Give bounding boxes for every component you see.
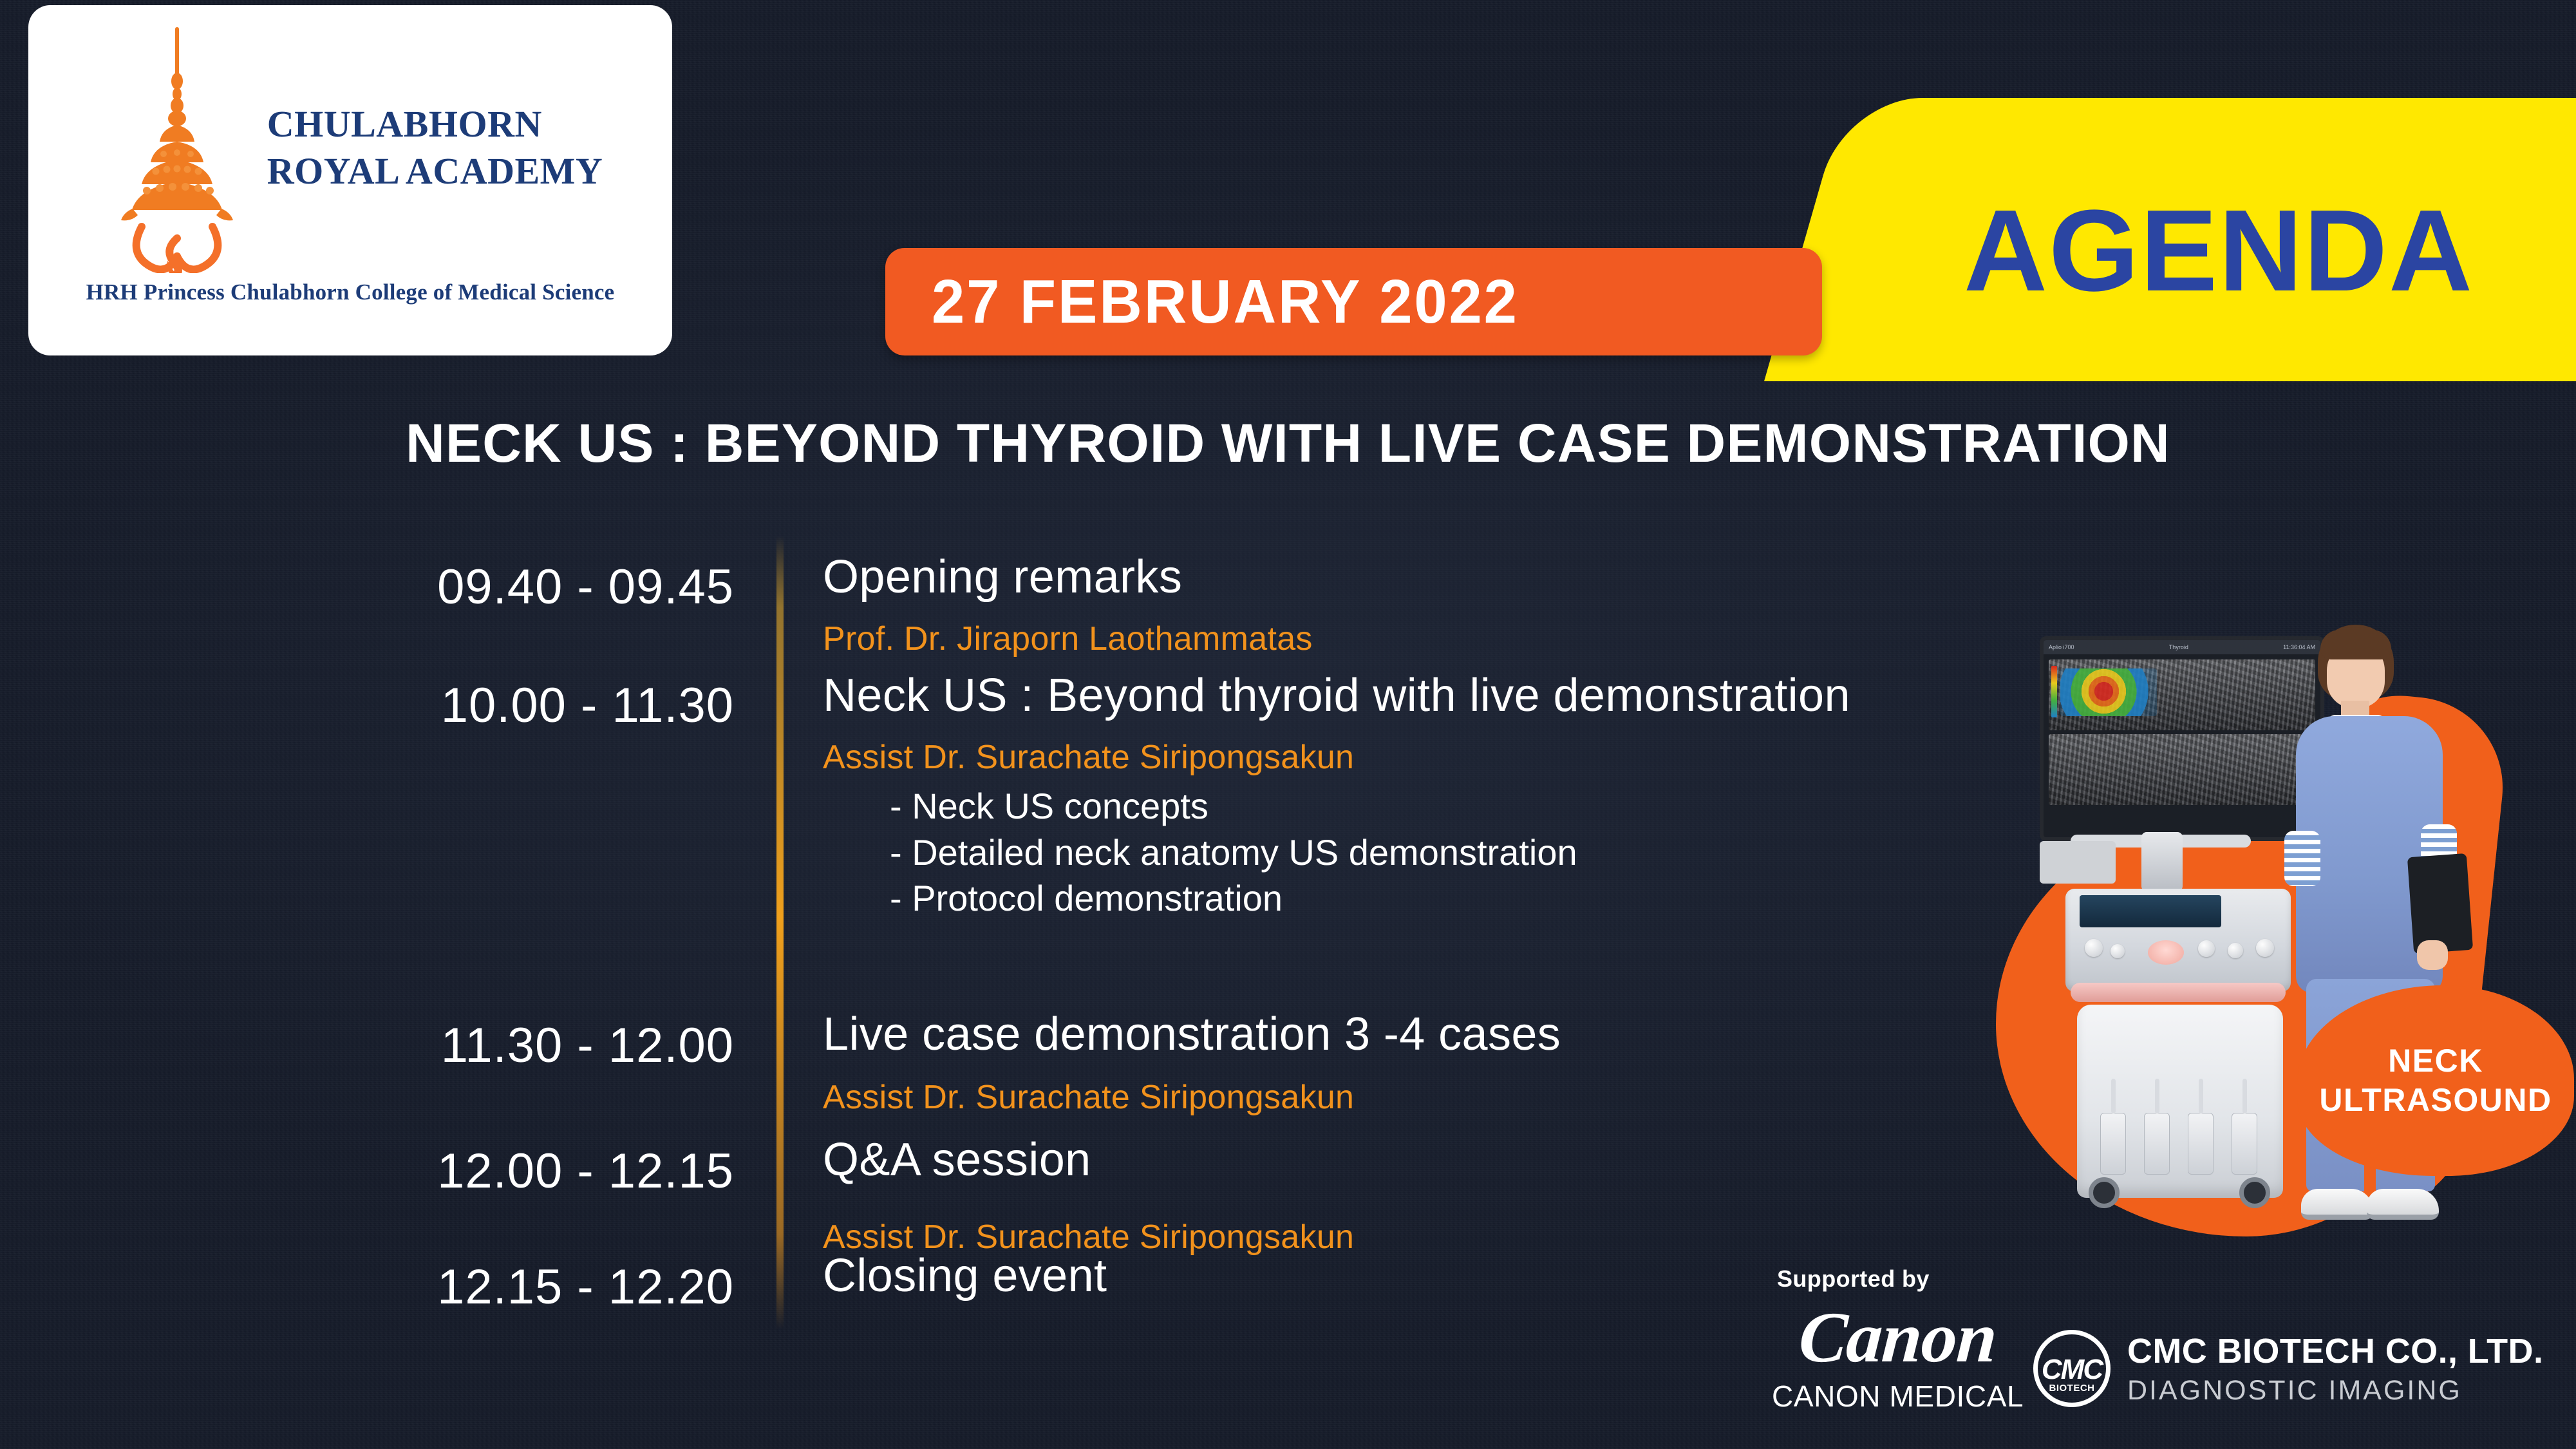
ultrasound-probe <box>2144 1113 2170 1175</box>
ultrasound-probe <box>2232 1113 2257 1175</box>
agenda-row-speaker: Prof. Dr. Jiraporn Laothammatas <box>823 622 1313 656</box>
machine-monitor-stand <box>2141 832 2183 891</box>
agenda-row-body: Neck US : Beyond thyroid with live demon… <box>823 672 1850 774</box>
thai-royal-crest-icon <box>102 22 253 273</box>
event-date-pill: 27 FEBRUARY 2022 <box>885 248 1822 355</box>
agenda-row-body: Live case demonstration 3 -4 cases Assis… <box>823 1011 1561 1114</box>
cart-wheel <box>2089 1177 2120 1208</box>
agenda-row-topic: Live case demonstration 3 -4 cases <box>823 1011 1561 1057</box>
canon-medical-label: CANON MEDICAL <box>1772 1379 2024 1414</box>
agenda-row-topic: Opening remarks <box>823 554 1313 600</box>
agenda-row-time: 12.15 - 12.20 <box>283 1259 734 1315</box>
cmc-mark-text: CMC <box>2038 1354 2106 1386</box>
supported-by-label: Supported by <box>1777 1265 1930 1293</box>
agenda-row-topic: Neck US : Beyond thyroid with live demon… <box>823 672 1850 719</box>
clinician-fringe <box>2320 630 2391 659</box>
agenda-title: AGENDA <box>1964 193 2576 309</box>
agenda-row-body: Opening remarks Prof. Dr. Jiraporn Laoth… <box>823 554 1313 656</box>
machine-console <box>2065 889 2291 992</box>
agenda-row-speaker: Assist Dr. Surachate Siripongsakun <box>823 1220 1354 1254</box>
agenda-row-time: 09.40 - 09.45 <box>283 559 734 615</box>
event-date-label: 27 FEBRUARY 2022 <box>932 267 1519 337</box>
page-title: NECK US : BEYOND THYROID WITH LIVE CASE … <box>0 412 2576 475</box>
console-lip <box>2071 983 2286 1002</box>
agenda-row-time: 11.30 - 12.00 <box>283 1018 734 1074</box>
logo-line-1: CHULABHORN <box>267 100 603 147</box>
cmc-tagline: DIAGNOSTIC IMAGING <box>2127 1375 2543 1406</box>
cmc-mark-icon: CMC BIOTECH <box>2033 1330 2111 1407</box>
console-knob <box>2085 939 2103 957</box>
monitor-left-label: Aplio i700 <box>2049 644 2074 650</box>
agenda-row-time: 10.00 - 11.30 <box>283 677 734 734</box>
ultrasound-probe <box>2188 1113 2214 1175</box>
monitor-center-label: Thyroid <box>2169 644 2188 650</box>
color-scale-bar <box>2051 666 2057 717</box>
cmc-company-name: CMC BIOTECH CO., LTD. <box>2127 1331 2543 1371</box>
agenda-row-time: 12.00 - 12.15 <box>283 1143 734 1199</box>
elastography-overlay <box>2060 668 2157 716</box>
institution-logo-card: CHULABHORN ROYAL ACADEMY HRH Princess Ch… <box>28 5 672 355</box>
machine-monitor-neck <box>2040 841 2116 884</box>
console-knob <box>2228 943 2243 958</box>
console-touchscreen <box>2080 895 2221 927</box>
agenda-bullet: - Protocol demonstration <box>890 875 1577 922</box>
agenda-row-topic: Closing event <box>823 1253 1107 1299</box>
ultrasound-probe <box>2100 1113 2126 1175</box>
canon-wordmark: Canon <box>1769 1303 2026 1374</box>
clinician-sleeve-stripe <box>2284 831 2320 886</box>
logo-line-2: ROYAL ACADEMY <box>267 147 603 194</box>
sponsor-section: Supported by Canon CANON MEDICAL CMC BIO… <box>1764 1265 2537 1426</box>
clinician-shoe <box>2367 1189 2439 1220</box>
agenda-poster: CHULABHORN ROYAL ACADEMY HRH Princess Ch… <box>0 0 2576 1449</box>
agenda-row-body: Closing event <box>823 1253 1107 1299</box>
console-knob <box>2198 940 2215 957</box>
badge-line-2: ULTRASOUND <box>2319 1081 2552 1120</box>
canon-logo: Canon CANON MEDICAL <box>1772 1303 2024 1414</box>
machine-cart-body <box>2077 1005 2283 1198</box>
hero-illustration: Aplio i700 Thyroid 11:36:04 AM <box>1957 618 2576 1262</box>
agenda-row-speaker: Assist Dr. Surachate Siripongsakun <box>823 1081 1561 1114</box>
console-trackball <box>2148 940 2184 965</box>
agenda-row-bullets: - Neck US concepts - Detailed neck anato… <box>890 783 1577 922</box>
logo-subtitle: HRH Princess Chulabhorn College of Medic… <box>86 279 615 305</box>
clinician-hand <box>2417 940 2448 970</box>
agenda-row-speaker: Assist Dr. Surachate Siripongsakun <box>823 741 1850 774</box>
neck-ultrasound-badge: NECK ULTRASOUND <box>2297 985 2574 1176</box>
cmc-mark-subtext: BIOTECH <box>2038 1383 2106 1394</box>
clinician-tablet <box>2407 853 2473 954</box>
agenda-row-body: Q&A session Assist Dr. Surachate Siripon… <box>823 1137 1354 1254</box>
clinician-shoe <box>2301 1189 2373 1220</box>
agenda-bullet: - Neck US concepts <box>890 783 1577 829</box>
agenda-bullet: - Detailed neck anatomy US demonstration <box>890 829 1577 876</box>
logo-wordmark: CHULABHORN ROYAL ACADEMY <box>267 100 603 194</box>
console-knob <box>2111 944 2125 958</box>
agenda-row-topic: Q&A session <box>823 1137 1354 1183</box>
badge-line-1: NECK <box>2388 1041 2483 1081</box>
cmc-logo: CMC BIOTECH CMC BIOTECH CO., LTD. DIAGNO… <box>2033 1330 2543 1407</box>
